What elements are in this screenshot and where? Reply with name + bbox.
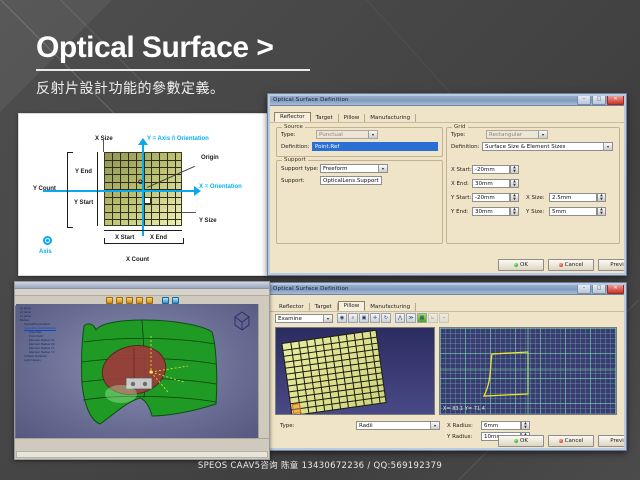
support-type-value: Freeform	[321, 166, 378, 172]
close-icon[interactable]: ✕	[607, 284, 624, 294]
y-radius-label: Y Radius:	[447, 434, 472, 440]
grid-x-start-field[interactable]: -20mm	[472, 165, 510, 174]
slide-root: Optical Surface > 反射片設計功能的參數定義。	[0, 0, 640, 480]
source-type-label: Type:	[281, 132, 296, 138]
grid-type-combo[interactable]: Rectangular ▾	[486, 130, 548, 139]
grid-x-end-label: X End:	[451, 181, 469, 187]
catia-menubar[interactable]	[15, 289, 269, 296]
cancel-button-label: Cancel	[565, 262, 584, 268]
label-y-count: Y Count	[33, 186, 56, 192]
dialog2-button-row: OK Cancel Preview	[498, 435, 627, 447]
pillow-3d-preview[interactable]	[275, 327, 435, 415]
schematic-x-axis	[43, 190, 194, 192]
tab-manufacturing[interactable]: Manufacturing	[365, 303, 416, 311]
globe-icon[interactable]: ◉	[337, 313, 347, 323]
grid-x-size-label: X Size:	[526, 195, 545, 201]
support-label: Support:	[281, 178, 305, 184]
close-icon[interactable]: ✕	[607, 95, 624, 105]
move-icon[interactable]: ✛	[370, 313, 380, 323]
label-y-axis-orientation: Y = Axis /\ Orientation	[147, 136, 209, 142]
dialog2-tabs[interactable]: Reflector Target Pillow Manufacturing	[268, 295, 626, 312]
grid-x-size-stepper[interactable]: ▲▼	[597, 193, 606, 202]
cancel-button[interactable]: Cancel	[548, 259, 594, 271]
toolbar-icon[interactable]	[136, 297, 143, 304]
tab-reflector[interactable]: Reflector	[274, 112, 311, 122]
chevron-down-icon[interactable]: ▾	[430, 422, 439, 429]
measure-icon: ⊾	[428, 313, 438, 323]
catia-3d-viewport[interactable]: xy plane yz plane zx plane Bodies Optica…	[16, 304, 259, 439]
label-x-count: X Count	[126, 257, 149, 263]
ok-dot-icon	[514, 263, 518, 267]
maximize-icon[interactable]: □	[592, 95, 606, 105]
view-mode-combo[interactable]: Examine ▾	[275, 314, 333, 323]
ok-button-label: OK	[520, 262, 528, 268]
grid-group-legend: Grid	[452, 124, 468, 130]
chevron-down-icon[interactable]: ▾	[603, 143, 612, 150]
optical-surface-definition-dialog-1[interactable]: Optical Surface Definition – □ ✕ Reflect…	[267, 93, 627, 276]
grid-x-size-field[interactable]: 2.5mm	[549, 193, 597, 202]
ok-button[interactable]: OK	[498, 435, 544, 447]
dialog2-title: Optical Surface Definition	[270, 286, 349, 292]
ok-button[interactable]: OK	[498, 259, 544, 271]
view-toolbar[interactable]: ◉ ⌕ ▣ ✛ ↻ ⋀ ≫ ▦ ⊾ ⌁	[337, 313, 449, 323]
rotate-icon[interactable]: ↻	[381, 313, 391, 323]
selected-element-highlight	[292, 403, 301, 414]
ok-dot-icon	[514, 439, 518, 443]
grid-type-value: Rectangular	[487, 132, 538, 138]
catia-compass-icon[interactable]	[229, 308, 255, 334]
grid-y-start-label: Y Start:	[451, 195, 471, 201]
grid-definition-label: Definition:	[451, 144, 480, 150]
chevron-down-icon[interactable]: ▾	[538, 131, 547, 138]
x-radius-field[interactable]: 6mm	[481, 421, 521, 430]
dialog1-tabs[interactable]: Reflector Target Pillow Manufacturing	[268, 106, 626, 123]
dialog1-button-row: OK Cancel Preview	[498, 259, 627, 271]
grid-parameters-schematic: O Origin Y = Axis /\ Orientation X = Ori…	[18, 113, 268, 276]
slide-footer: SPEOS CAAV5咨询 陈童 13430672236 / QQ:569192…	[0, 459, 640, 471]
grid-x-start-label: X Start:	[451, 167, 472, 173]
page-title: Optical Surface >	[36, 33, 273, 63]
grid-y-size-stepper[interactable]: ▲▼	[597, 207, 606, 216]
pillow-element-grid	[281, 330, 386, 415]
toolbar-icon[interactable]	[106, 297, 113, 304]
label-y-size: Y Size	[199, 218, 217, 224]
catia-bottom-toolbar[interactable]	[15, 438, 269, 459]
grid-y-start-stepper[interactable]: ▲▼	[510, 193, 519, 202]
x-radius-label: X Radius:	[447, 423, 473, 429]
minimize-icon[interactable]: –	[577, 95, 591, 105]
fit-grid-icon[interactable]: ▦	[417, 313, 427, 323]
title-underline	[36, 69, 310, 71]
curve-icon[interactable]: ⋀	[395, 313, 405, 323]
cancel-dot-icon	[559, 439, 563, 443]
toolbar-icon[interactable]	[162, 297, 169, 304]
source-type-value: Punctual	[317, 132, 368, 138]
preview-button[interactable]: Preview	[598, 435, 627, 447]
catia-status-bar	[16, 451, 268, 458]
source-group-legend: Source	[282, 124, 305, 130]
toolbar-icon[interactable]	[126, 297, 133, 304]
optical-surface-definition-dialog-2[interactable]: Optical Surface Definition – □ ✕ Reflect…	[267, 282, 627, 451]
grid-type-label: Type:	[451, 132, 466, 138]
support-type-label: Support type:	[281, 166, 319, 172]
grid-y-end-field[interactable]: 30mm	[472, 207, 510, 216]
support-type-combo[interactable]: Freeform ▾	[320, 164, 388, 173]
preview-button-label: Preview	[610, 438, 627, 444]
dialog2-window-buttons: – □ ✕	[577, 284, 624, 294]
grid-y-start-field[interactable]: -20mm	[472, 193, 510, 202]
catia-model-geometry	[16, 304, 259, 439]
toolbar-icon[interactable]	[116, 297, 123, 304]
catia-application-window[interactable]: xy plane yz plane zx plane Bodies Optica…	[14, 281, 270, 460]
y-size-tick	[182, 212, 196, 213]
tab-manufacturing[interactable]: Manufacturing	[365, 114, 416, 122]
chevron-down-icon[interactable]: ▾	[368, 131, 377, 138]
grid-x-start-stepper[interactable]: ▲▼	[510, 165, 519, 174]
tab-target[interactable]: Target	[311, 114, 339, 122]
dialog1-window-buttons: – □ ✕	[577, 95, 624, 105]
origin-letter: O	[138, 180, 143, 186]
pillow-type-label: Type:	[280, 423, 295, 429]
label-axis: Axis	[39, 249, 52, 255]
grid-y-end-label: Y End:	[451, 209, 468, 215]
catia-titlebar[interactable]	[15, 282, 269, 289]
chevron-down-icon[interactable]: ▾	[323, 315, 332, 322]
label-y-end: Y End	[75, 169, 92, 175]
coordinate-readout: X= 83.1 Y= 71.4	[443, 406, 485, 412]
y-extent-line	[97, 152, 98, 226]
axis-symbol-icon	[43, 236, 52, 245]
source-definition-label: Definition:	[281, 144, 310, 150]
ok-button-label: OK	[520, 438, 528, 444]
grid-x-end-field[interactable]: 30mm	[472, 179, 510, 188]
grid-definition-value: Surface Size & Element Sizes	[483, 144, 603, 150]
cancel-button-label: Cancel	[565, 438, 584, 444]
source-type-combo[interactable]: Punctual ▾	[316, 130, 378, 139]
x-count-bracket	[104, 238, 184, 244]
pillow-profile-grid-view[interactable]: X= 83.1 Y= 71.4	[439, 327, 617, 415]
label-origin: Origin	[201, 155, 219, 161]
dialog2-titlebar[interactable]: Optical Surface Definition – □ ✕	[268, 283, 626, 295]
chevrons-icon[interactable]: ≫	[406, 313, 416, 323]
pillow-profile-outline	[440, 328, 617, 415]
x-size-tick	[103, 138, 104, 152]
support-field[interactable]: OpticalLens.Support	[320, 176, 382, 185]
source-definition-field[interactable]: Point.Ref	[312, 142, 438, 151]
toolbar-icon[interactable]	[172, 297, 179, 304]
view-mode-value: Examine	[276, 316, 323, 322]
chevron-down-icon[interactable]: ▾	[378, 165, 387, 172]
tab-reflector[interactable]: Reflector	[274, 303, 310, 311]
cancel-button[interactable]: Cancel	[548, 435, 594, 447]
x-extent-line	[104, 230, 182, 231]
tab-pillow[interactable]: Pillow	[338, 301, 366, 311]
pan-3d-icon[interactable]: ▣	[359, 313, 369, 323]
minimize-icon[interactable]: –	[577, 284, 591, 294]
grid-x-end-stepper[interactable]: ▲▼	[510, 179, 519, 188]
dialog1-title: Optical Surface Definition	[270, 97, 349, 103]
preview-button[interactable]: Preview	[598, 259, 627, 271]
grid-definition-combo[interactable]: Surface Size & Element Sizes ▾	[482, 142, 613, 151]
catia-right-toolbar[interactable]	[258, 304, 269, 439]
x-radius-stepper[interactable]: ▲▼	[521, 421, 530, 430]
label-x-orientation: X = Orientation	[199, 184, 242, 190]
page-subtitle: 反射片設計功能的參數定義。	[36, 78, 225, 98]
cancel-dot-icon	[559, 263, 563, 267]
magnifier-icon[interactable]: ⌕	[348, 313, 358, 323]
maximize-icon[interactable]: □	[592, 284, 606, 294]
grid-y-end-stepper[interactable]: ▲▼	[510, 207, 519, 216]
grid-y-size-label: Y Size:	[526, 209, 544, 215]
pillow-type-value: Radii	[357, 423, 430, 429]
dialog1-titlebar[interactable]: Optical Surface Definition – □ ✕	[268, 94, 626, 106]
tab-pillow[interactable]: Pillow	[339, 114, 366, 122]
grid-y-size-field[interactable]: 5mm	[549, 207, 597, 216]
pillow-type-combo[interactable]: Radii ▾	[356, 421, 440, 430]
toolbar-icon[interactable]	[146, 297, 153, 304]
support-group-legend: Support	[282, 157, 308, 163]
y-count-bracket	[67, 152, 73, 228]
tab-target[interactable]: Target	[310, 303, 338, 311]
select-icon: ⌁	[439, 313, 449, 323]
label-y-start: Y Start	[74, 200, 93, 206]
preview-button-label: Preview	[610, 262, 627, 268]
